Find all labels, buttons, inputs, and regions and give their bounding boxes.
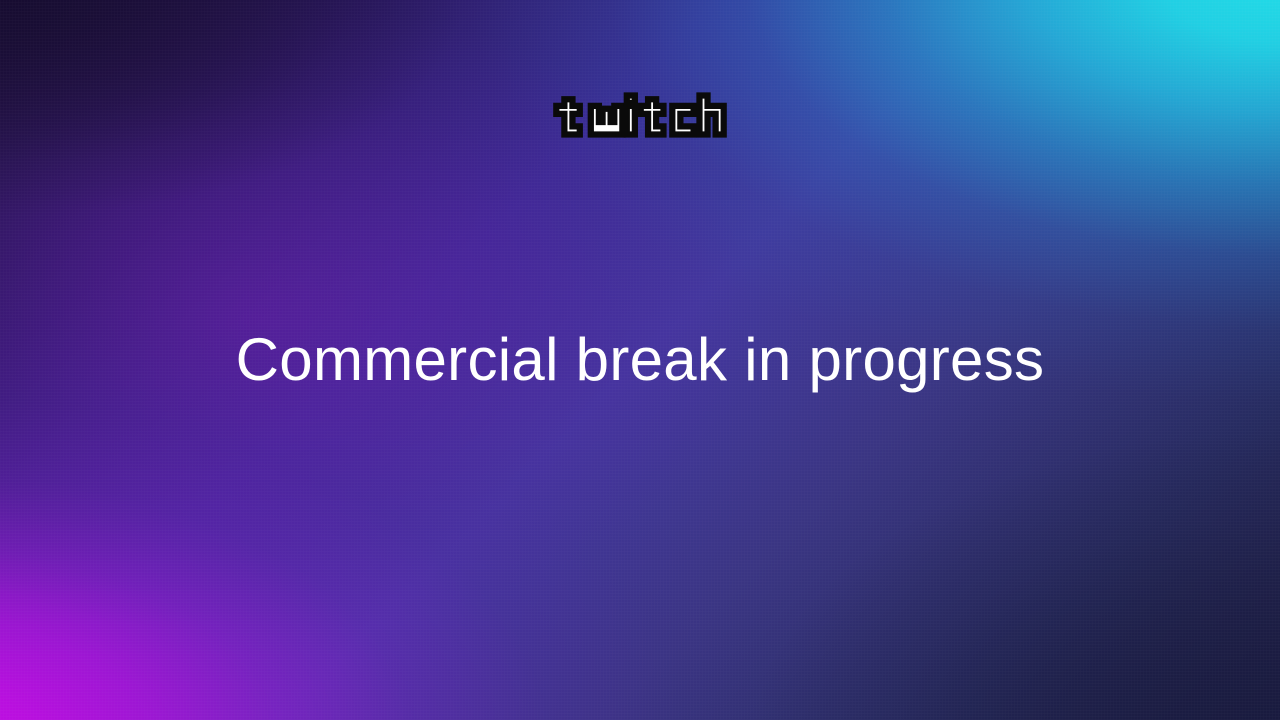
brand-logo-container [0, 86, 1280, 144]
twitch-wordmark-icon [553, 86, 727, 144]
stream-overlay-screen: Commercial break in progress [0, 0, 1280, 720]
